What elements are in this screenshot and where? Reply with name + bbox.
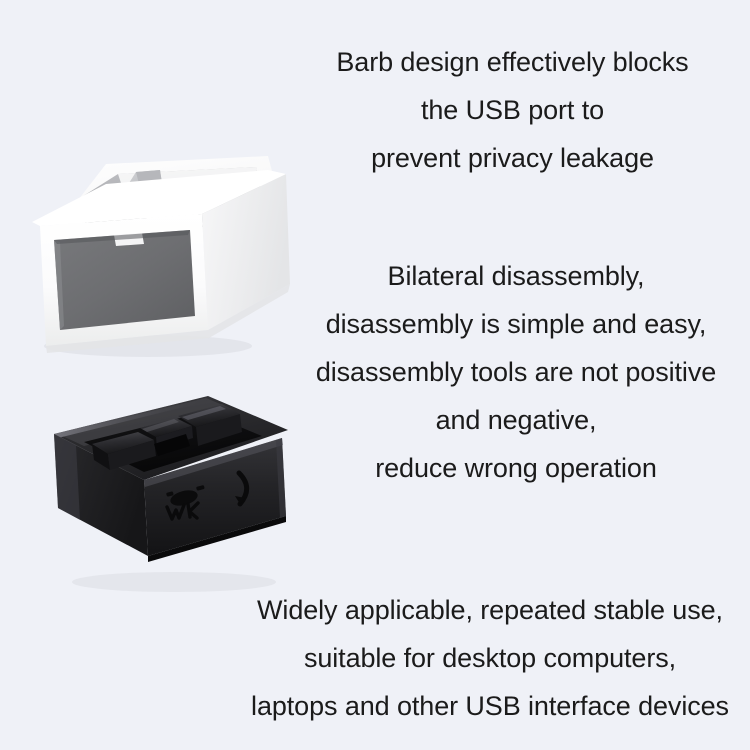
black-body-left-gloss [54, 434, 80, 520]
feature-bottom-line-3: laptops and other USB interface devices [232, 682, 748, 730]
feature-top-line-1: Barb design effectively blocks [285, 38, 740, 86]
feature-middle-line-4: and negative, [285, 396, 747, 444]
feature-text-middle: Bilateral disassembly, disassembly is si… [285, 252, 747, 492]
feature-top-line-2: the USB port to [285, 86, 740, 134]
feature-text-top: Barb design effectively blocks the USB p… [285, 38, 740, 182]
feature-middle-line-5: reduce wrong operation [285, 444, 747, 492]
product-infographic: Barb design effectively blocks the USB p… [0, 0, 750, 750]
feature-top-line-3: prevent privacy leakage [285, 134, 740, 182]
feature-text-bottom: Widely applicable, repeated stable use, … [232, 586, 748, 730]
feature-middle-line-1: Bilateral disassembly, [285, 252, 747, 300]
black-usb-port-blocker-photo [36, 388, 316, 598]
feature-bottom-line-1: Widely applicable, repeated stable use, [232, 586, 748, 634]
white-usb-port-blocker-photo [18, 150, 298, 360]
feature-middle-line-2: disassembly is simple and easy, [285, 300, 747, 348]
feature-middle-line-3: disassembly tools are not positive [285, 348, 747, 396]
feature-bottom-line-2: suitable for desktop computers, [232, 634, 748, 682]
